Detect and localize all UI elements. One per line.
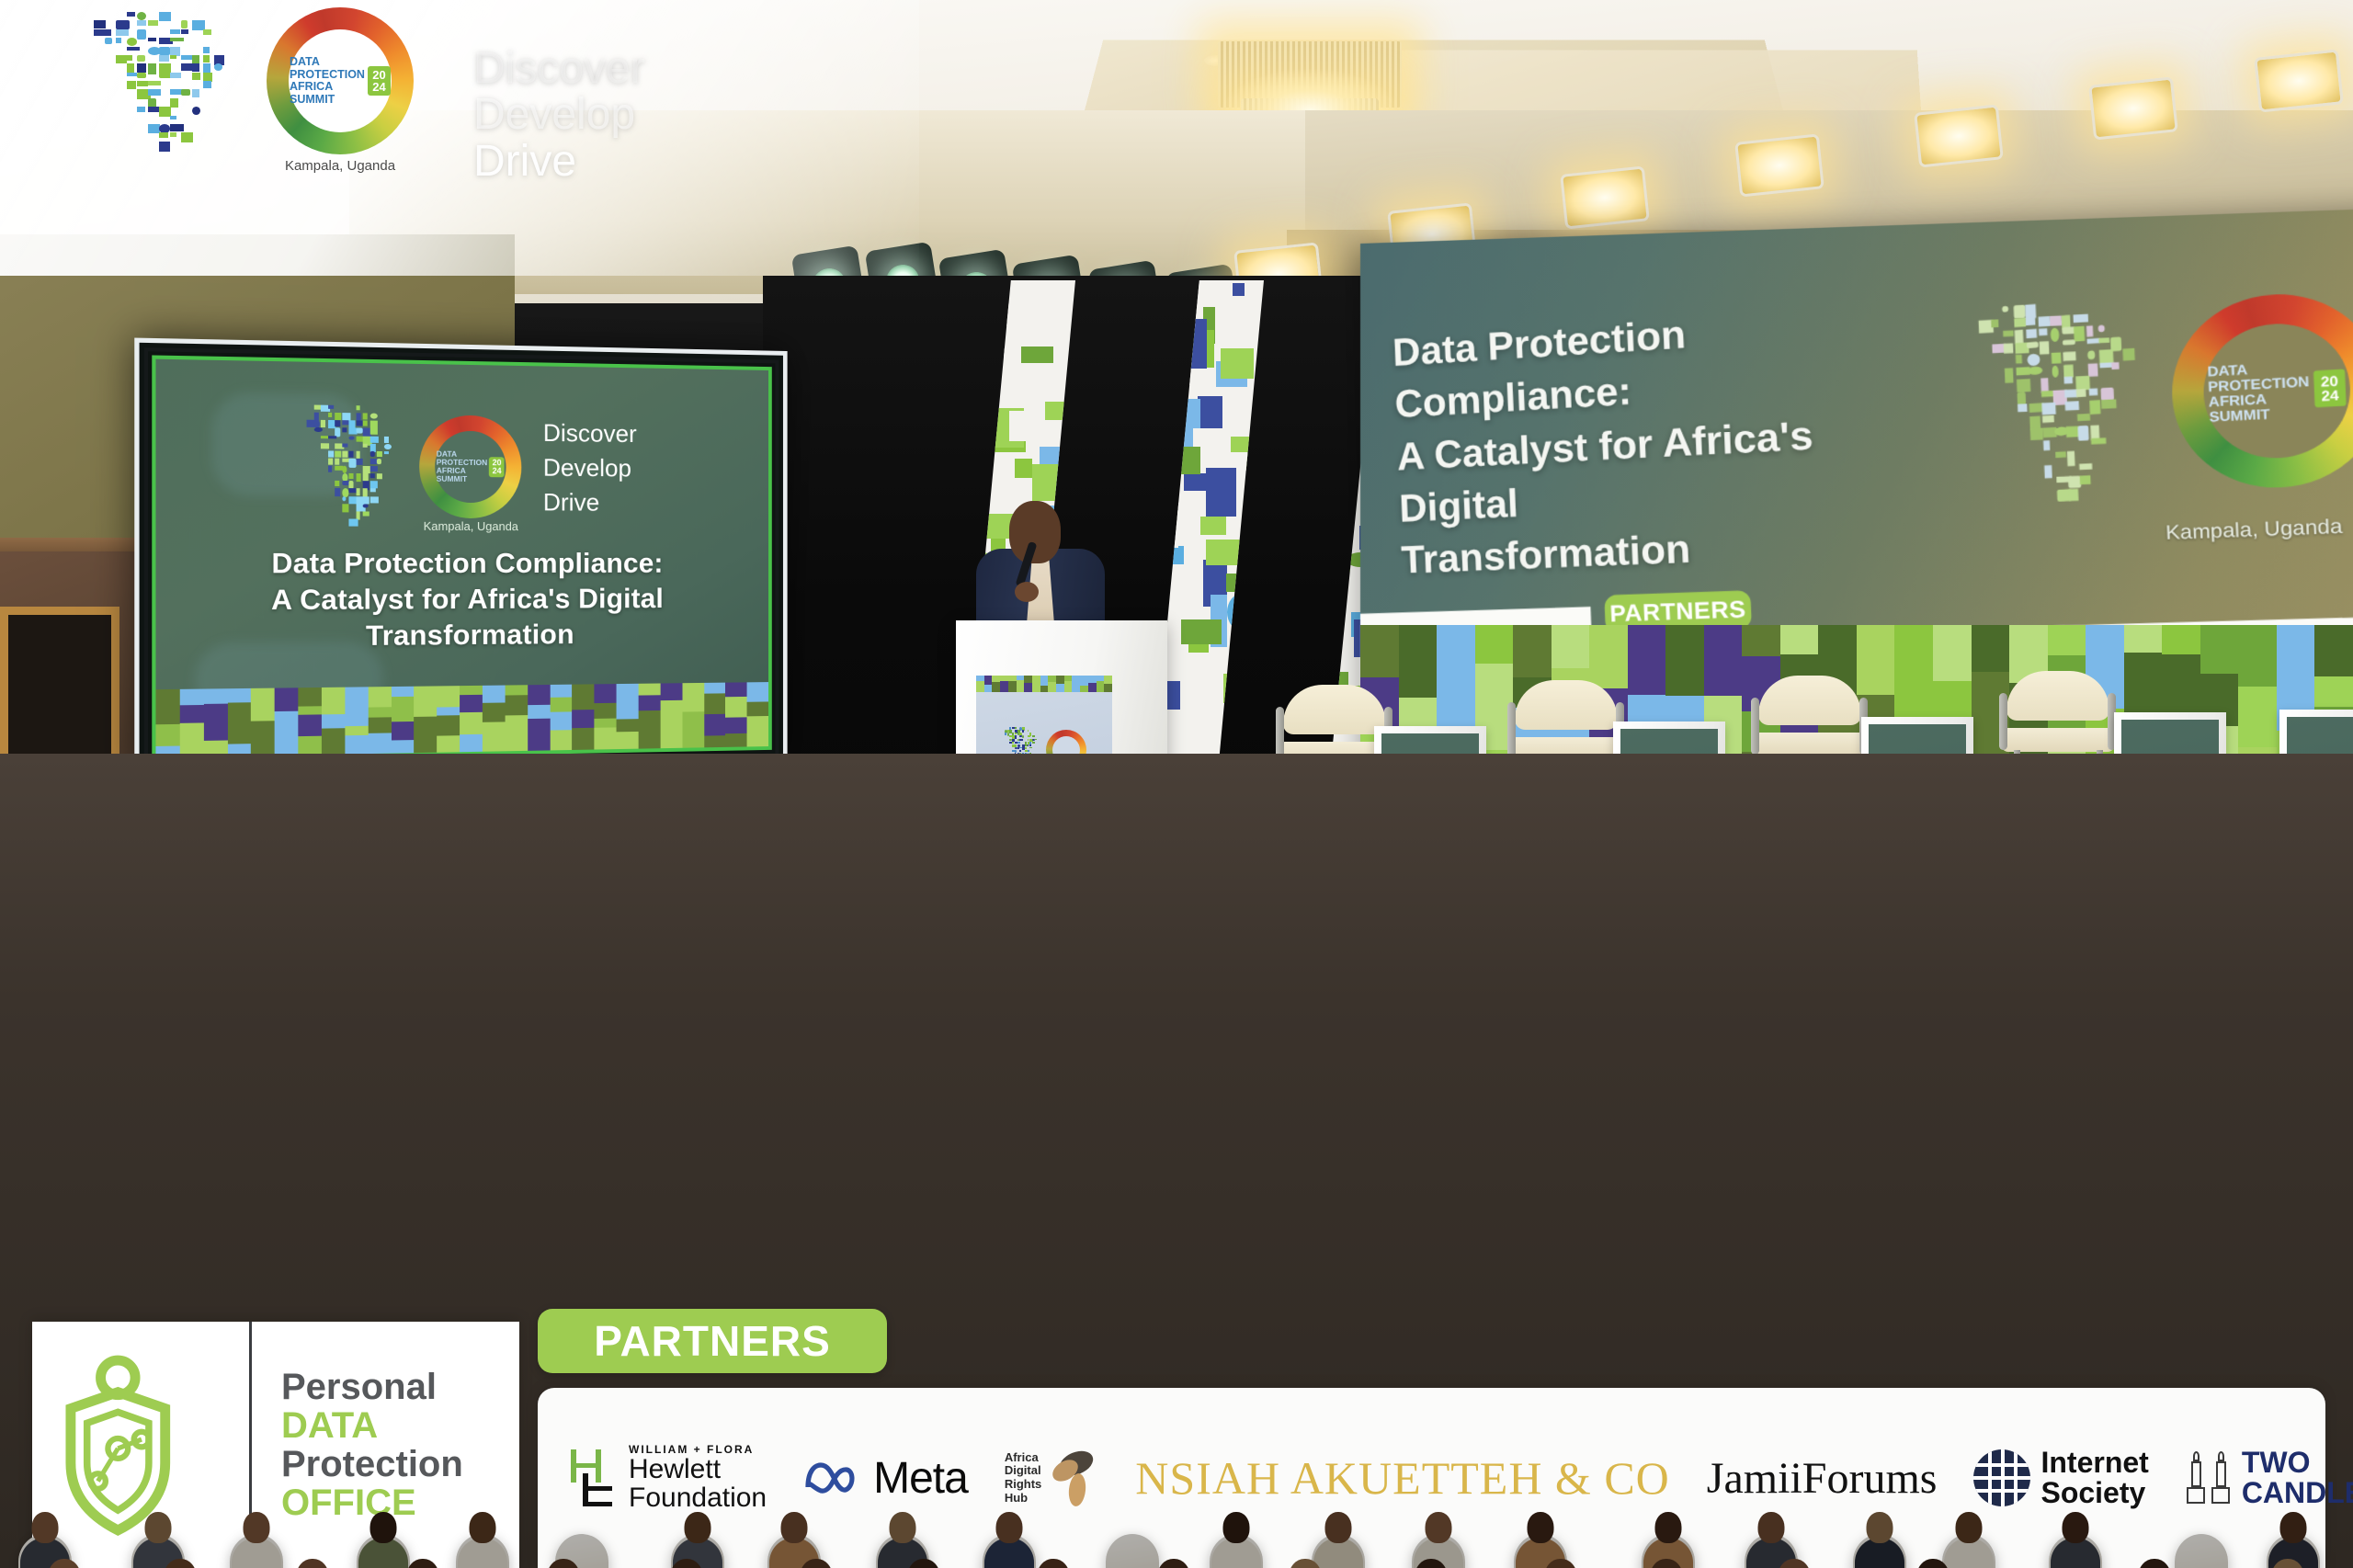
partner-logo-internet-society: Internet Society [1973, 1448, 2148, 1507]
projection-screen: DATA PROTECTION AFRICA SUMMIT 20 24 [134, 338, 787, 779]
tagline-overlay-2: Develop [473, 92, 859, 138]
pdpo-word-3: Protection [281, 1445, 463, 1483]
tagline-overlay-1: Discover [473, 46, 859, 92]
slide-tagline-2: Develop [543, 450, 637, 486]
door-frame [0, 607, 119, 772]
audience-member [1147, 1559, 1200, 1568]
banner-title: Data Protection Compliance: A Catalyst f… [1392, 290, 1947, 586]
stage-panel-light [1914, 104, 2004, 167]
header-logo-line-3: AFRICA [290, 81, 365, 94]
partners-badge: PARTNERS [538, 1309, 887, 1373]
audience-member [2261, 1559, 2314, 1568]
adrh-line-4: Hub [1005, 1492, 1041, 1506]
audience-member [461, 1512, 504, 1568]
audience-member [790, 1559, 843, 1568]
audience-member [286, 1559, 339, 1568]
stage-panel-light [2088, 76, 2178, 140]
speaker [974, 501, 1112, 639]
pdpo-word-1: Personal [281, 1368, 463, 1406]
slide-title-line-3: Transformation [155, 615, 768, 655]
stage-panel-light [2254, 49, 2344, 112]
logo-line-4: SUMMIT [437, 475, 487, 484]
partner-logo-jamiiforums: JamiiForums [1707, 1453, 1938, 1504]
slide-title: Data Protection Compliance: A Catalyst f… [155, 545, 768, 656]
audience-member [2054, 1512, 2097, 1568]
adrh-line-3: Rights [1005, 1478, 1041, 1492]
slide-title-line-1: Data Protection Compliance: [155, 545, 768, 582]
audience-member [1027, 1559, 1080, 1568]
banner-year-bottom: 24 [2321, 388, 2339, 403]
banner-summit-logo: DATA PROTECTION AFRICA SUMMIT 20 24 [1965, 244, 2353, 540]
header-year-bottom: 24 [372, 81, 385, 93]
slide-kente-strip [155, 682, 768, 757]
stage-panel-light [1560, 165, 1650, 229]
adrh-line-1: Africa [1005, 1451, 1041, 1465]
isoc-line-1: Internet [2040, 1448, 2148, 1478]
hewlett-line-2: Foundation [629, 1483, 767, 1512]
meta-label: Meta [873, 1453, 968, 1504]
header-logo-line-2: PROTECTION [290, 69, 365, 82]
audience-member [1859, 1512, 1901, 1568]
partner-logo-two-candlesticks: TWO CANDLESTICKS [2186, 1448, 2353, 1507]
audience-member [396, 1559, 449, 1568]
partner-logo-hewlett-foundation: WILLIAM + FLORA Hewlett Foundation [569, 1444, 767, 1513]
audience-member [1906, 1559, 1960, 1568]
slide-tagline-1: Discover [543, 415, 637, 451]
header-logo-line-1: DATA [290, 56, 365, 69]
slide-content: DATA PROTECTION AFRICA SUMMIT 20 24 [152, 355, 772, 761]
hewlett-line-1: Hewlett [629, 1455, 767, 1483]
header-logo-line-4: SUMMIT [290, 94, 365, 107]
logo-year-bottom: 24 [493, 467, 502, 475]
audience-member [1279, 1559, 1332, 1568]
audience-member [2128, 1559, 2181, 1568]
candlesticks-icon [2186, 1451, 2231, 1505]
meta-infinity-icon [803, 1460, 862, 1495]
audience-member [988, 1512, 1030, 1568]
hewlett-h-mark-icon [569, 1449, 620, 1506]
header-location: Kampala, Uganda [285, 158, 395, 174]
audience-member [1768, 1559, 1821, 1568]
slide-tagline-3: Drive [543, 485, 637, 520]
pdpo-word-2: DATA [281, 1406, 463, 1445]
audience-member [153, 1559, 207, 1568]
twocand-line-2: CANDLESTICKS [2242, 1478, 2353, 1508]
audience-member [235, 1512, 278, 1568]
partner-logo-africa-digital-rights-hub: Africa Digital Rights Hub [1005, 1449, 1098, 1506]
conference-photo: DATA PROTECTION AFRICA SUMMIT 20 24 [0, 0, 2353, 1568]
globe-icon [1973, 1449, 2030, 1506]
partner-logo-meta: Meta [803, 1453, 968, 1504]
audience-member [1404, 1559, 1458, 1568]
partners-bar: Personal DATA Protection OFFICE PARTNERS… [0, 1292, 2353, 1568]
audience-member [38, 1559, 91, 1568]
stage-panel-light [1734, 133, 1824, 197]
slide-location: Kampala, Uganda [155, 518, 768, 534]
summit-ring-icon: DATA PROTECTION AFRICA SUMMIT 20 24 [267, 7, 414, 154]
audience-member [537, 1559, 590, 1568]
adrh-shell-icon [1047, 1449, 1098, 1506]
twocand-line-1: TWO [2242, 1448, 2353, 1478]
audience-member [1534, 1559, 1587, 1568]
pdpo-shield-icon [63, 1353, 220, 1537]
isoc-line-2: Society [2040, 1478, 2148, 1508]
banner-logo-line-4: SUMMIT [2209, 404, 2311, 425]
partner-logo-nsiah-akuetteh: NSIAH AKUETTEH & CO [1135, 1451, 1669, 1505]
audience-member [660, 1559, 713, 1568]
summit-ring-logo: DATA PROTECTION AFRICA SUMMIT 20 24 [419, 415, 521, 518]
slide-logo: DATA PROTECTION AFRICA SUMMIT 20 24 [155, 403, 768, 528]
adrh-line-2: Digital [1005, 1464, 1041, 1478]
event-logo-header: DATA PROTECTION AFRICA SUMMIT 20 24 Kamp… [83, 7, 478, 154]
tagline-overlay-3: Drive [473, 139, 859, 185]
audience-member [1640, 1559, 1693, 1568]
tagline-overlay: Discover Develop Drive [473, 46, 859, 185]
slide-title-line-2: A Catalyst for Africa's Digital [155, 580, 768, 619]
audience-member [1215, 1512, 1257, 1568]
audience-member [897, 1559, 950, 1568]
